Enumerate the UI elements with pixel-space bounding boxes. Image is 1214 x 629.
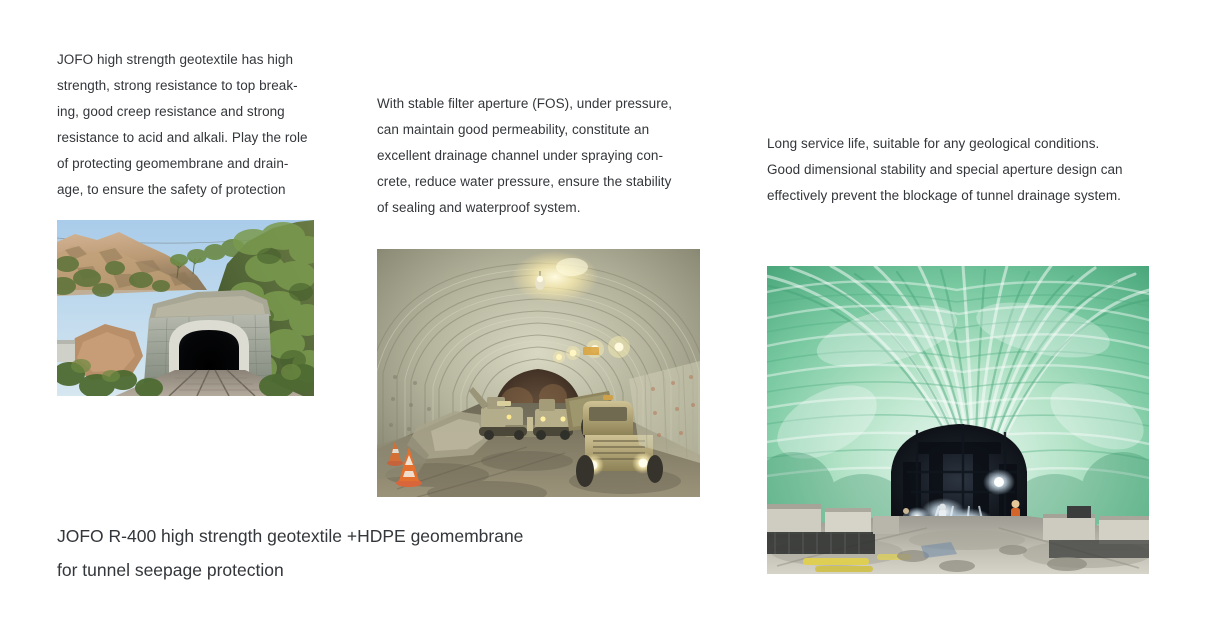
product-caption: JOFO R-400 high strength geotextile +HDP… — [57, 519, 677, 587]
tunnel-construction-photo — [377, 249, 700, 497]
feature-text-column-2: With stable filter aperture (FOS), under… — [377, 91, 695, 221]
tunnel-construction-illustration — [377, 249, 700, 497]
tunnel-entrance-illustration — [57, 220, 314, 396]
tunnel-entrance-photo — [57, 220, 314, 396]
feature-text-column-3: Long service life, suitable for any geol… — [767, 131, 1157, 209]
tunnel-geomembrane-illustration — [767, 266, 1149, 574]
tunnel-geomembrane-photo — [767, 266, 1149, 574]
feature-text-column-1: JOFO high strength geotextile has high s… — [57, 47, 325, 203]
